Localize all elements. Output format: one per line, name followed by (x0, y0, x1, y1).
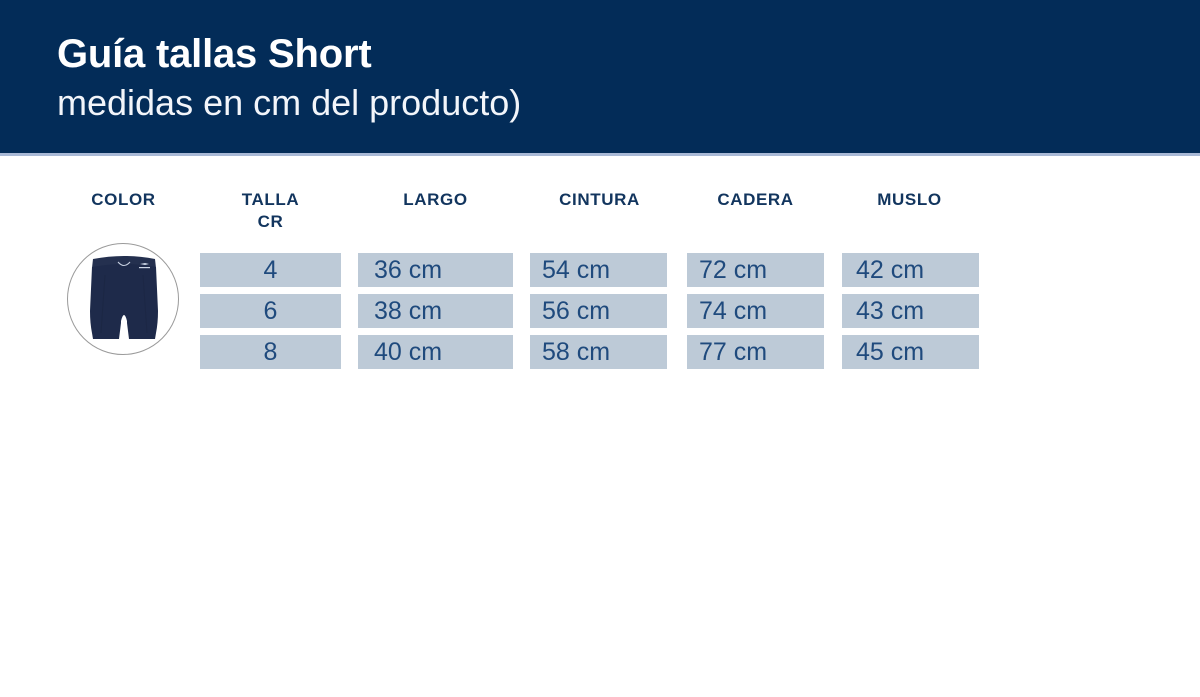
table-column-headers: COLOR TALLA CR LARGO CINTURA CADERA MUSL… (0, 189, 1200, 245)
cell-cintura: 58 cm (530, 335, 667, 369)
cell-largo: 36 cm (358, 253, 513, 287)
table-row: 6 38 cm 56 cm 74 cm 43 cm (0, 294, 1200, 328)
column-header-muslo: MUSLO (840, 189, 979, 211)
cell-largo: 38 cm (358, 294, 513, 328)
cell-cintura: 54 cm (530, 253, 667, 287)
page-title: Guía tallas Short (57, 30, 1057, 78)
cell-cadera: 72 cm (687, 253, 824, 287)
table-row: 8 40 cm 58 cm 77 cm 45 cm (0, 335, 1200, 369)
column-header-color: COLOR (52, 189, 195, 211)
cell-talla: 6 (200, 294, 341, 328)
table-row: 4 36 cm 54 cm 72 cm 42 cm (0, 253, 1200, 287)
column-header-cintura: CINTURA (522, 189, 677, 211)
header-text-block: Guía tallas Short medidas en cm del prod… (57, 30, 1057, 126)
cell-muslo: 42 cm (842, 253, 979, 287)
column-header-talla-line2: CR (199, 211, 342, 233)
cell-muslo: 43 cm (842, 294, 979, 328)
cell-cadera: 74 cm (687, 294, 824, 328)
cell-muslo: 45 cm (842, 335, 979, 369)
size-guide-table: COLOR TALLA CR LARGO CINTURA CADERA MUSL… (0, 153, 1200, 697)
column-header-cadera: CADERA (686, 189, 825, 211)
cell-cintura: 56 cm (530, 294, 667, 328)
column-header-talla-cr: TALLA CR (199, 189, 342, 233)
header-banner: Guía tallas Short medidas en cm del prod… (0, 0, 1200, 153)
cell-talla: 4 (200, 253, 341, 287)
cell-cadera: 77 cm (687, 335, 824, 369)
column-header-largo: LARGO (358, 189, 513, 211)
cell-talla: 8 (200, 335, 341, 369)
page-subtitle: medidas en cm del producto) (57, 80, 1057, 126)
cell-largo: 40 cm (358, 335, 513, 369)
column-header-talla-line1: TALLA (199, 189, 342, 211)
